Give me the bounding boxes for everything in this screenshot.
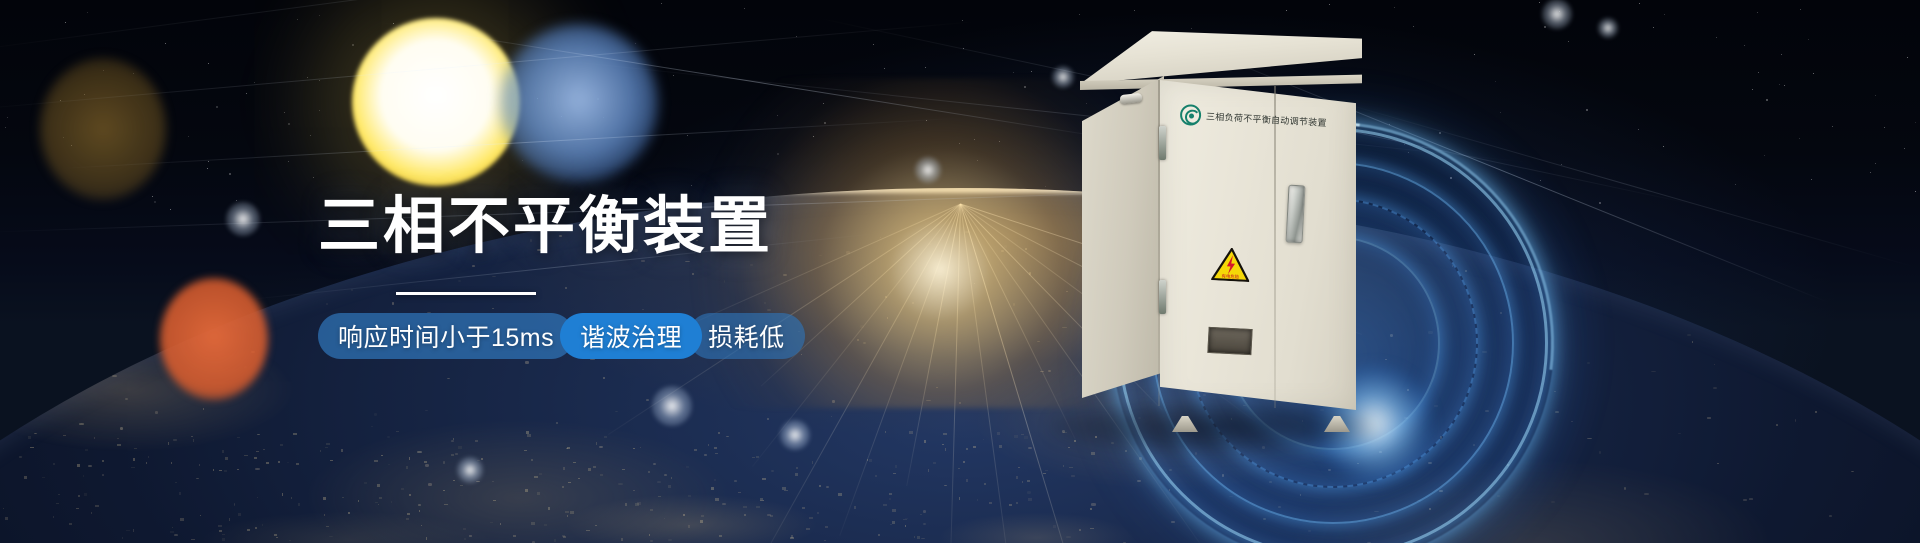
city-light-pixel: [719, 535, 722, 537]
light-spark: [780, 420, 810, 450]
city-light-pixel: [586, 530, 590, 531]
city-light-pixel: [244, 455, 248, 456]
city-light-pixel: [117, 438, 119, 439]
city-light-pixel: [218, 525, 222, 527]
globe-speck: [425, 464, 429, 467]
star: [319, 15, 320, 16]
city-light-pixel: [867, 459, 868, 461]
city-light-pixel: [358, 500, 359, 502]
star: [1716, 37, 1717, 38]
star: [1764, 155, 1765, 156]
star: [5, 127, 6, 128]
city-light-pixel: [175, 482, 177, 483]
city-light-pixel: [570, 511, 574, 514]
city-light-pixel: [825, 526, 828, 528]
star: [1450, 177, 1452, 179]
cabinet-front-door: [1160, 80, 1356, 410]
city-light-pixel: [291, 497, 292, 499]
city-light-pixel: [701, 515, 704, 517]
city-light-pixel: [375, 502, 378, 503]
city-light-pixel: [179, 492, 181, 495]
city-light-pixel: [170, 531, 174, 533]
city-light-pixel: [878, 534, 880, 536]
city-light-pixel: [30, 447, 34, 448]
city-light-pixel: [984, 483, 986, 485]
globe-speck: [1328, 469, 1331, 472]
city-light-pixel: [531, 459, 533, 461]
star: [7, 117, 8, 118]
city-light-pixel: [326, 443, 330, 445]
city-light-pixel: [222, 450, 224, 453]
city-light-pixel: [625, 503, 627, 506]
city-light-pixel: [537, 492, 540, 495]
city-light-pixel: [1028, 498, 1032, 501]
city-light-pixel: [330, 460, 333, 461]
cabinet-side-panel: [1082, 76, 1164, 398]
city-light-pixel: [213, 469, 214, 471]
city-light-pixel: [744, 514, 746, 516]
city-light-pixel: [254, 457, 257, 459]
city-light-pixel: [28, 436, 31, 439]
city-light-pixel: [3, 508, 4, 509]
globe-speck: [147, 328, 149, 330]
feature-pill-row: 响应时间小于15ms谐波治理损耗低: [318, 313, 958, 359]
city-light-pixel: [229, 518, 230, 521]
city-light-pixel: [219, 470, 222, 471]
star: [1875, 163, 1876, 164]
city-light-pixel: [191, 539, 195, 540]
city-light-pixel: [219, 530, 222, 532]
city-light-pixel: [421, 525, 422, 526]
star: [188, 136, 189, 137]
globe-speck: [500, 523, 501, 525]
bokeh-blue-circle: [500, 24, 658, 182]
star: [1799, 138, 1800, 139]
city-light-pixel: [1018, 467, 1020, 468]
city-light-pixel: [280, 444, 283, 446]
globe-speck: [374, 413, 377, 416]
cabinet-door-handle: [1285, 185, 1305, 244]
city-light-pixel: [406, 466, 408, 469]
city-light-pixel: [342, 497, 344, 498]
star: [873, 44, 874, 45]
city-light-pixel: [752, 457, 755, 458]
globe-speck: [1678, 433, 1681, 434]
city-light-pixel: [391, 501, 392, 503]
city-light-pixel: [633, 490, 635, 491]
globe-speck: [1407, 389, 1409, 390]
star: [1781, 54, 1782, 55]
city-light-pixel: [885, 431, 886, 433]
city-light-pixel: [648, 471, 650, 473]
high-voltage-warning-sticker: 有电危险: [1211, 247, 1251, 282]
city-light-pixel: [683, 514, 685, 516]
star: [284, 112, 285, 113]
globe-speck: [1815, 411, 1817, 413]
city-light-pixel: [795, 473, 798, 476]
city-light-pixel: [688, 495, 691, 497]
city-light-pixel: [443, 490, 445, 491]
globe-speck: [1851, 471, 1854, 472]
globe-speck: [556, 422, 557, 425]
city-light-pixel: [426, 537, 427, 540]
city-light-pixel: [77, 464, 80, 467]
city-light-pixel: [1069, 467, 1073, 468]
globe-speck: [469, 535, 472, 536]
city-light-pixel: [180, 518, 184, 521]
city-light-pixel: [963, 461, 965, 463]
city-light-pixel: [688, 525, 690, 528]
city-light-pixel: [409, 494, 411, 496]
city-light-pixel: [658, 496, 661, 497]
city-light-pixel: [924, 440, 926, 443]
star: [307, 77, 308, 78]
city-light-pixel: [401, 488, 404, 490]
city-light-pixel: [718, 432, 720, 434]
city-light-pixel: [782, 487, 786, 490]
bokeh-orange-circle: [160, 278, 268, 400]
city-light-pixel: [222, 534, 225, 535]
city-light-pixel: [869, 459, 872, 462]
star: [1568, 41, 1569, 42]
city-light-pixel: [475, 440, 478, 442]
star: [1800, 9, 1801, 10]
city-light-pixel: [762, 478, 766, 480]
globe-speck: [1485, 410, 1489, 412]
city-light-pixel: [664, 518, 665, 519]
globe-speck: [1079, 529, 1081, 531]
feature-pill-3[interactable]: 损耗低: [688, 313, 805, 359]
city-light-pixel: [1095, 436, 1097, 438]
city-light-pixel: [58, 494, 60, 495]
city-light-pixel: [148, 456, 149, 458]
city-light-pixel: [997, 432, 1000, 435]
globe-speck: [79, 423, 84, 425]
city-light-pixel: [743, 506, 747, 508]
city-light-pixel: [298, 503, 300, 506]
star: [65, 22, 66, 23]
city-light-pixel: [1045, 470, 1048, 471]
city-light-pixel: [24, 476, 27, 479]
globe-speck: [722, 503, 726, 506]
city-light-pixel: [237, 437, 240, 438]
city-light-pixel: [379, 497, 382, 499]
city-light-pixel: [5, 517, 8, 520]
city-light-pixel: [326, 526, 329, 527]
star: [1766, 99, 1768, 101]
globe-speck: [1222, 474, 1224, 476]
hero-copy-block: 三相不平衡装置 响应时间小于15ms谐波治理损耗低: [318, 196, 958, 359]
city-light-pixel: [1024, 436, 1028, 439]
globe-speck: [657, 481, 661, 483]
star: [165, 43, 166, 44]
city-light-pixel: [943, 433, 947, 435]
city-light-pixel: [817, 512, 819, 514]
city-light-pixel: [200, 515, 201, 516]
city-light-pixel: [640, 447, 641, 448]
city-light-pixel: [649, 534, 650, 536]
globe-speck: [1550, 221, 1553, 224]
city-light-pixel: [905, 525, 906, 527]
city-light-pixel: [770, 515, 773, 517]
star: [673, 75, 674, 76]
star: [1915, 122, 1916, 123]
city-light-pixel: [945, 448, 946, 451]
city-light-pixel: [824, 540, 826, 541]
city-light-pixel: [711, 487, 714, 490]
city-light-pixel: [63, 435, 66, 436]
feature-pill-1[interactable]: 响应时间小于15ms: [318, 313, 574, 359]
city-light-pixel: [91, 512, 92, 514]
city-light-pixel: [262, 524, 263, 526]
city-light-pixel: [694, 449, 697, 451]
globe-speck: [53, 297, 55, 298]
city-light-pixel: [892, 521, 895, 524]
globe-speck: [155, 332, 157, 334]
city-light-pixel: [378, 504, 379, 505]
city-light-pixel: [854, 506, 856, 509]
star: [1013, 72, 1014, 73]
cabinet-door-seam-middle: [1274, 86, 1276, 408]
city-light-pixel: [909, 431, 913, 434]
star: [1808, 39, 1809, 40]
globe-speck: [1482, 351, 1487, 353]
star: [1832, 126, 1833, 127]
globe-speck: [704, 454, 707, 456]
city-light-pixel: [257, 497, 258, 498]
star: [661, 3, 662, 4]
title-divider: [396, 292, 536, 295]
city-light-pixel: [1074, 440, 1076, 442]
city-light-pixel: [282, 493, 283, 496]
globe-speck: [86, 344, 88, 346]
star: [208, 63, 209, 64]
city-light-pixel: [95, 505, 99, 507]
city-light-pixel: [247, 529, 250, 531]
city-light-pixel: [959, 497, 960, 500]
city-light-pixel: [1091, 452, 1095, 455]
star: [1439, 132, 1441, 134]
city-light-pixel: [464, 538, 466, 540]
globe-speck: [1169, 489, 1171, 491]
city-light-pixel: [567, 515, 568, 517]
city-light-pixel: [492, 481, 494, 482]
city-light-pixel: [966, 479, 968, 482]
city-light-pixel: [715, 453, 718, 454]
globe-speck: [1300, 494, 1301, 496]
star: [1870, 172, 1871, 173]
star: [1907, 57, 1908, 58]
globe-speck: [1374, 511, 1378, 513]
city-light-pixel: [1090, 528, 1094, 529]
city-light-pixel: [566, 448, 568, 449]
city-light-pixel: [999, 445, 1002, 448]
city-light-pixel: [84, 493, 87, 496]
cabinet-hinge-lower: [1159, 280, 1166, 314]
star: [1286, 10, 1287, 11]
city-light-pixel: [255, 527, 257, 529]
city-light-pixel: [989, 502, 992, 504]
city-light-pixel: [819, 485, 821, 487]
globe-speck: [1755, 292, 1760, 294]
product-cabinet: 三相负荷不平衡自动调节装置 有电危险: [1062, 30, 1362, 420]
city-light-pixel: [534, 476, 538, 478]
star: [744, 8, 745, 9]
globe-speck: [1599, 451, 1601, 454]
star: [522, 160, 523, 161]
city-light-pixel: [563, 467, 565, 470]
city-light-pixel: [568, 482, 571, 483]
city-light-pixel: [102, 460, 104, 462]
city-light-pixel: [481, 458, 483, 460]
globe-speck: [664, 474, 667, 476]
city-light-pixel: [453, 480, 455, 481]
city-light-pixel: [889, 498, 891, 500]
star: [1500, 112, 1501, 113]
globe-speck: [102, 474, 104, 476]
feature-pill-2[interactable]: 谐波治理: [560, 313, 702, 359]
globe-speck: [826, 486, 830, 488]
star: [1031, 71, 1032, 72]
globe-speck: [1651, 371, 1656, 372]
city-light-pixel: [714, 447, 717, 449]
city-light-pixel: [531, 522, 535, 525]
globe-speck: [122, 284, 127, 286]
globe-speck: [1390, 334, 1393, 337]
city-light-pixel: [973, 446, 976, 448]
star: [310, 135, 311, 136]
city-light-pixel: [875, 475, 877, 477]
city-light-pixel: [544, 524, 547, 526]
city-light-pixel: [134, 448, 137, 449]
city-light-pixel: [1027, 480, 1030, 482]
city-light-pixel: [453, 438, 454, 440]
star: [962, 20, 963, 21]
city-light-pixel: [604, 436, 607, 438]
light-spark: [915, 157, 941, 183]
city-light-pixel: [444, 504, 448, 505]
globe-speck: [51, 324, 55, 325]
city-light-pixel: [409, 457, 410, 460]
city-light-pixel: [812, 461, 813, 464]
city-light-pixel: [806, 528, 810, 530]
city-light-pixel: [893, 473, 896, 474]
city-light-pixel: [374, 460, 378, 462]
city-light-pixel: [593, 466, 596, 468]
star: [1904, 148, 1905, 149]
city-light-pixel: [838, 493, 842, 496]
city-light-pixel: [1016, 476, 1018, 479]
city-light-pixel: [460, 485, 463, 486]
city-light-pixel: [650, 509, 653, 511]
city-light-pixel: [341, 449, 343, 452]
star: [1811, 179, 1812, 180]
city-light-pixel: [668, 485, 671, 488]
city-light-pixel: [237, 469, 239, 470]
city-light-pixel: [802, 507, 805, 509]
star: [1539, 2, 1540, 3]
city-light-pixel: [889, 493, 892, 495]
star: [1586, 109, 1588, 111]
globe-speck: [117, 304, 120, 305]
star: [1079, 14, 1080, 15]
city-light-pixel: [977, 499, 978, 501]
globe-speck: [1308, 530, 1312, 531]
light-spark: [457, 457, 483, 483]
city-light-pixel: [364, 482, 367, 484]
star: [246, 93, 247, 94]
globe-speck: [1439, 490, 1443, 492]
city-light-pixel: [53, 463, 55, 465]
globe-speck: [1864, 393, 1866, 396]
city-light-pixel: [293, 433, 297, 435]
star: [288, 161, 289, 162]
globe-speck: [19, 456, 22, 458]
city-light-pixel: [256, 451, 259, 452]
city-light-pixel: [490, 522, 493, 523]
city-light-pixel: [700, 520, 703, 523]
star: [1813, 73, 1814, 74]
city-light-pixel: [622, 469, 625, 470]
star: [1653, 27, 1654, 28]
city-light-pixel: [146, 462, 147, 464]
star: [1779, 84, 1780, 85]
star: [1875, 95, 1876, 96]
city-light-pixel: [117, 444, 121, 446]
city-light-pixel: [131, 467, 135, 468]
globe-speck: [1698, 274, 1702, 275]
city-light-pixel: [1022, 481, 1023, 483]
city-light-pixel: [1043, 473, 1046, 474]
city-light-pixel: [578, 478, 580, 479]
globe-speck: [155, 411, 159, 414]
city-light-pixel: [966, 448, 968, 450]
star: [313, 177, 314, 178]
globe-speck: [1756, 258, 1758, 261]
city-light-pixel: [324, 514, 325, 516]
city-light-pixel: [621, 538, 623, 541]
city-light-pixel: [892, 509, 896, 512]
city-light-pixel: [266, 462, 269, 464]
city-light-pixel: [760, 500, 764, 501]
city-light-pixel: [790, 537, 794, 539]
city-light-pixel: [323, 497, 326, 500]
star: [1735, 184, 1736, 185]
city-light-pixel: [1063, 432, 1067, 433]
city-light-pixel: [548, 507, 550, 510]
city-light-pixel: [83, 475, 84, 477]
city-light-pixel: [458, 446, 462, 449]
globe-speck: [1137, 480, 1141, 482]
city-light-pixel: [756, 456, 759, 458]
city-light-pixel: [172, 527, 173, 528]
star: [1394, 7, 1395, 8]
city-light-pixel: [539, 473, 542, 475]
city-light-pixel: [274, 534, 277, 536]
star: [1752, 89, 1753, 90]
city-light-pixel: [1009, 504, 1012, 506]
star: [1884, 127, 1885, 128]
city-light-pixel: [715, 498, 719, 501]
city-light-pixel: [686, 466, 689, 468]
city-light-pixel: [56, 503, 59, 504]
city-light-pixel: [193, 439, 194, 442]
city-light-pixel: [388, 464, 390, 465]
city-light-pixel: [222, 538, 225, 541]
star: [1408, 152, 1409, 153]
globe-speck: [1892, 263, 1894, 266]
globe-speck: [1473, 444, 1475, 446]
